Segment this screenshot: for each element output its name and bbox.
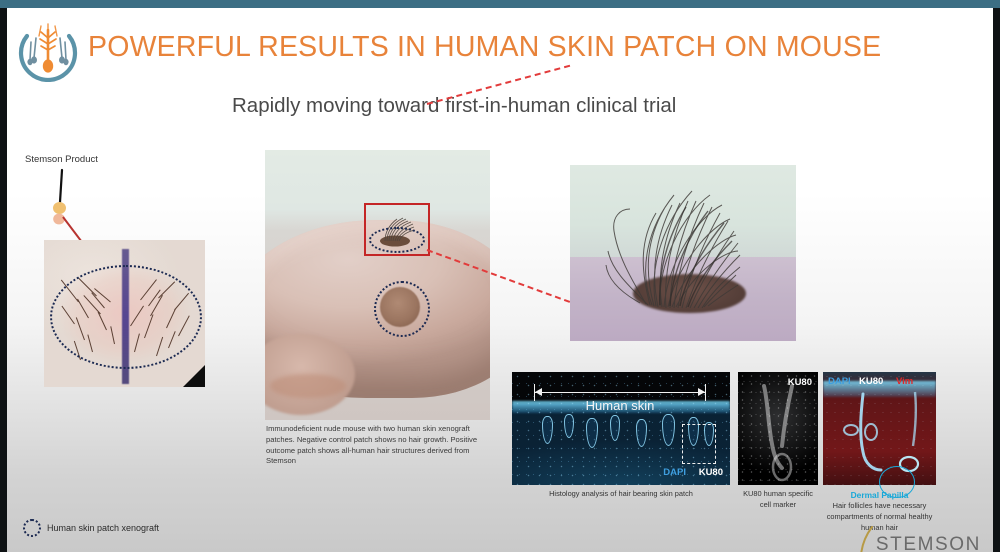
negative-patch-outline <box>374 281 430 337</box>
hair-tuft-magnified-photo <box>570 165 796 341</box>
ku80-follicle-outline <box>738 372 818 485</box>
slide-canvas: POWERFUL RESULTS IN HUMAN SKIN PATCH ON … <box>7 8 993 552</box>
histology-caption-2: KU80 human specific cell marker <box>738 489 818 510</box>
histology-tag-ku80: KU80 <box>788 377 812 388</box>
stemson-product-label: Stemson Product <box>25 154 98 165</box>
histology-tag-vim: Vim <box>896 376 913 387</box>
human-skin-scalebar-label: Human skin <box>534 398 706 413</box>
legend-label: Human skin patch xenograft <box>47 523 159 533</box>
histology-panel-dapi-ku80: Human skin DAPI KU80 <box>512 372 730 485</box>
photo-corner-notch <box>183 365 205 387</box>
nude-mouse-photo <box>265 150 490 420</box>
histology-tag-ku80: KU80 <box>859 376 883 387</box>
histology-tag-dapi: DAPI <box>828 376 851 387</box>
roi-dashed-box <box>682 424 716 464</box>
frame-edge-right <box>993 8 1000 552</box>
hair-shafts-group <box>570 165 796 341</box>
dermal-papilla-label: Dermal Papilla <box>823 489 936 501</box>
dotted-ellipse-xenograft-outline <box>50 265 202 369</box>
brand-swoosh-icon <box>860 526 874 552</box>
brand-word: STEMSON <box>876 534 981 552</box>
histology-caption-1: Histology analysis of hair bearing skin … <box>512 489 730 500</box>
histology-panel-dapi-ku80-vim: DAPI KU80 Vim <box>823 372 936 485</box>
histology-tag-dapi: DAPI <box>663 467 686 478</box>
dotted-circle-marker <box>23 519 41 537</box>
mouse-photo-caption: Immunodeficient nude mouse with two huma… <box>266 424 488 467</box>
histology-panel-ku80: KU80 <box>738 372 818 485</box>
histology-tag-ku80: KU80 <box>699 467 723 478</box>
stemson-wordmark: STEMSON <box>860 526 981 552</box>
skin-patch-closeup-photo <box>44 240 205 387</box>
top-accent-bar <box>0 0 1000 8</box>
vim-follicle-outlines <box>823 372 936 485</box>
legend-human-skin-patch-xenograft: Human skin patch xenograft <box>23 519 159 537</box>
red-roi-box[interactable] <box>364 203 430 256</box>
slide-root: POWERFUL RESULTS IN HUMAN SKIN PATCH ON … <box>0 0 1000 552</box>
stemson-logo-icon <box>15 16 81 82</box>
frame-edge-left <box>0 8 7 552</box>
page-title: POWERFUL RESULTS IN HUMAN SKIN PATCH ON … <box>88 31 881 64</box>
